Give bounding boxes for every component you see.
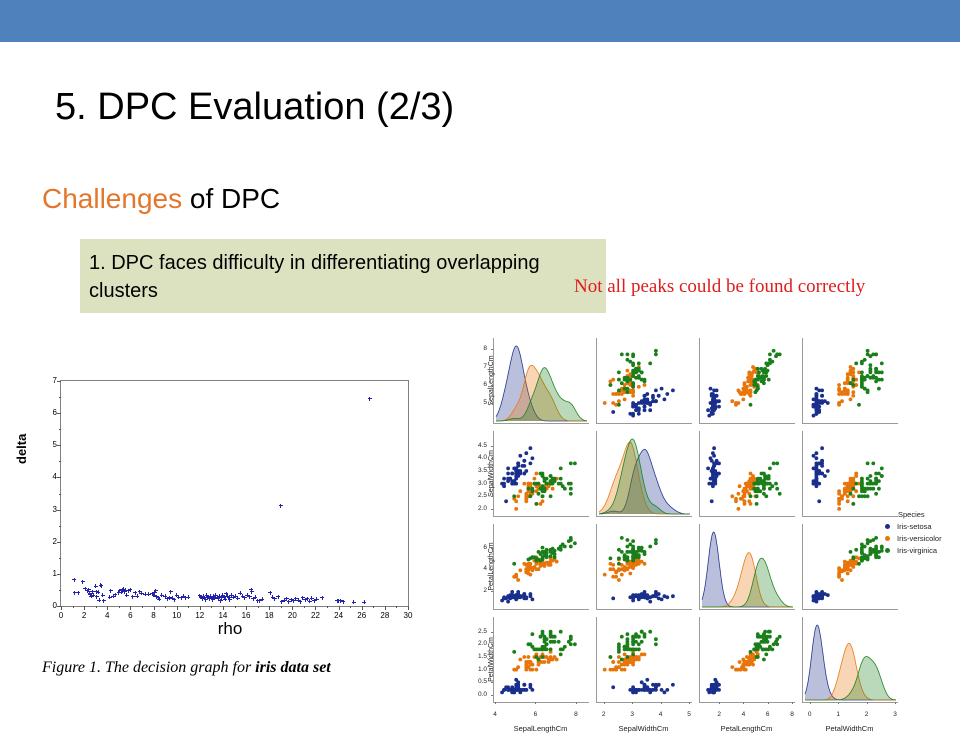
decision-graph-y-axis-label: delta (14, 434, 29, 464)
pairplot-y-tick-mark (491, 548, 493, 549)
pairplot-y-tick-mark (491, 367, 493, 368)
decision-graph-x-minor-tick (373, 606, 374, 608)
decision-graph-y-tick (57, 574, 61, 575)
pairplot-y-tick-label: 6 (465, 381, 487, 388)
pairplot-y-tick-label: 4.5 (465, 442, 487, 449)
decision-graph-x-tick (200, 606, 201, 610)
decision-graph-point (268, 591, 272, 595)
figure-caption-emphasis: iris data set (255, 659, 331, 676)
pairplot-y-tick-label: 2.0 (465, 640, 487, 647)
decision-graph-y-tick (57, 413, 61, 414)
figure-caption-prefix: Figure 1. The decision graph for (42, 659, 255, 676)
decision-graph-point (279, 504, 283, 508)
pairplot-diagonal-kde-cell (699, 524, 795, 610)
decision-graph-point (154, 589, 158, 593)
pairplot-scatter-cell (493, 524, 589, 610)
decision-graph-y-tick-label: 5 (47, 440, 57, 449)
decision-graph-y-minor-tick (59, 397, 61, 398)
decision-graph-point (169, 590, 173, 594)
pairplot-x-tick-mark (576, 702, 577, 704)
decision-graph-point (131, 595, 135, 599)
decision-graph-point (96, 590, 100, 594)
pairplot-y-tick-mark (491, 569, 493, 570)
pairplot-x-tick-label: 2 (711, 711, 727, 718)
pairplot-y-tick-mark (491, 695, 493, 696)
pairplot-x-tick-mark (661, 702, 662, 704)
decision-graph-x-tick (107, 606, 108, 610)
decision-graph-point (135, 594, 139, 598)
pairplot-y-tick-label: 0.5 (465, 678, 487, 685)
pairplot-x-tick-mark (895, 702, 896, 704)
pairplot-x-tick-label: 5 (681, 711, 697, 718)
pairplot-x-tick-mark (604, 702, 605, 704)
pairplot-y-tick-mark (491, 349, 493, 350)
subtitle-accent-text: Challenges (42, 183, 182, 214)
pairplot-scatter-cell (699, 431, 795, 517)
decision-graph-point (352, 600, 356, 604)
decision-graph-y-minor-tick (59, 526, 61, 527)
decision-graph-y-tick-label: 4 (47, 472, 57, 481)
legend-item-label: Iris-setosa (897, 522, 932, 531)
decision-graph-point (276, 595, 280, 599)
pairplot-y-tick-mark (491, 591, 493, 592)
pairplot-column-axis-label: PetalLengthCm (699, 724, 794, 733)
pairplot-legend: Species Iris-setosaIris-versicolorIris-v… (885, 510, 942, 558)
pairplot-x-tick-mark (810, 702, 811, 704)
decision-graph-point (236, 596, 240, 600)
decision-graph-y-minor-tick (59, 494, 61, 495)
pairplot-scatter-cell (699, 338, 795, 424)
decision-graph-point (99, 584, 103, 588)
decision-graph-x-tick (246, 606, 247, 610)
pairplot-x-tick-label: 6 (760, 711, 776, 718)
pairplot-y-tick-label: 7 (465, 363, 487, 370)
decision-graph-x-tick (223, 606, 224, 610)
legend-item-label: Iris-virginica (897, 546, 937, 555)
pairplot-x-tick-mark (495, 702, 496, 704)
decision-graph-point (260, 597, 264, 601)
legend-title: Species (898, 510, 942, 519)
decision-graph-x-minor-tick (119, 606, 120, 608)
pairplot-y-tick-label: 3.5 (465, 467, 487, 474)
pairplot-x-tick-label: 4 (735, 711, 751, 718)
pairplot-y-tick-mark (491, 496, 493, 497)
decision-graph-point (76, 591, 80, 595)
legend-color-swatch (885, 536, 890, 541)
pairplot-x-tick-mark (768, 702, 769, 704)
decision-graph-point (101, 593, 105, 597)
decision-graph-point (320, 596, 324, 600)
decision-graph-x-minor-tick (396, 606, 397, 608)
decision-graph-y-tick-label: 2 (47, 537, 57, 546)
pairplot-scatter-cell (493, 617, 589, 703)
decision-graph-y-minor-tick (59, 461, 61, 462)
pairplot-x-tick-label: 2 (596, 711, 612, 718)
pairplot-x-tick-mark (689, 702, 690, 704)
decision-graph-x-tick (269, 606, 270, 610)
pairplot-row-axis-label: SepalWidthCm (488, 431, 495, 516)
pairplot-scatter-cell (699, 617, 795, 703)
decision-graph-point (109, 589, 113, 593)
decision-graph-y-tick-label: 3 (47, 505, 57, 514)
pairplot-y-tick-label: 5 (465, 399, 487, 406)
peaks-annotation-text: Not all peaks could be found correctly (574, 276, 865, 298)
pairplot-x-tick-label: 4 (653, 711, 669, 718)
decision-graph-x-tick (130, 606, 131, 610)
decision-graph-x-tick (292, 606, 293, 610)
decision-graph-y-minor-tick (59, 429, 61, 430)
pairplot-y-tick-label: 2.5 (465, 628, 487, 635)
pairplot-column-axis-label: SepalLengthCm (493, 724, 588, 733)
decision-graph-figure: delta 0123456702468101214161820222426283… (20, 360, 440, 650)
legend-color-swatch (885, 524, 890, 529)
pairplot-y-tick-mark (491, 509, 493, 510)
pairplot-y-tick-mark (491, 458, 493, 459)
pairplot-diagonal-kde-cell (493, 338, 589, 424)
decision-graph-x-tick (362, 606, 363, 610)
pairplot-x-tick-mark (535, 702, 536, 704)
pairplot-scatter-cell (596, 617, 692, 703)
decision-graph-point (172, 598, 176, 602)
decision-graph-x-axis-label: rho (20, 619, 440, 639)
decision-graph-y-tick-label: 1 (47, 569, 57, 578)
decision-graph-point (362, 600, 366, 604)
decision-graph-x-minor-tick (304, 606, 305, 608)
page-title: 5. DPC Evaluation (2/3) (55, 86, 454, 129)
decision-graph-x-minor-tick (96, 606, 97, 608)
decision-graph-point (97, 598, 101, 602)
decision-graph-point (81, 580, 85, 584)
decision-graph-y-tick (57, 477, 61, 478)
pairplot-x-tick-label: 0 (802, 711, 818, 718)
pairplot-scatter-cell (596, 524, 692, 610)
pairplot-x-tick-label: 3 (624, 711, 640, 718)
decision-graph-y-tick (57, 510, 61, 511)
pairplot-x-tick-label: 1 (830, 711, 846, 718)
decision-graph-point (128, 588, 132, 592)
pairplot-x-tick-mark (743, 702, 744, 704)
pairplot-y-tick-label: 1.0 (465, 666, 487, 673)
decision-graph-x-tick (385, 606, 386, 610)
pairplot-x-tick-label: 2 (859, 711, 875, 718)
challenge-callout-text: 1. DPC faces difficulty in differentiati… (89, 249, 594, 305)
decision-graph-x-minor-tick (235, 606, 236, 608)
decision-graph-x-minor-tick (165, 606, 166, 608)
decision-graph-x-tick (339, 606, 340, 610)
pairplot-x-tick-mark (792, 702, 793, 704)
pairplot-scatter-cell (596, 338, 692, 424)
decision-graph-point (368, 397, 372, 401)
decision-graph-x-tick (177, 606, 178, 610)
decision-graph-point (72, 578, 76, 582)
pairplot-y-tick-mark (491, 484, 493, 485)
legend-item[interactable]: Iris-virginica (885, 546, 942, 555)
pairplot-y-tick-label: 6 (465, 544, 487, 551)
pairplot-scatter-cell (802, 524, 898, 610)
decision-graph-point (94, 584, 98, 588)
pairplot-y-tick-label: 2.5 (465, 492, 487, 499)
pairplot-y-tick-label: 3.0 (465, 480, 487, 487)
decision-graph-point (341, 600, 345, 604)
decision-graph-x-tick (408, 606, 409, 610)
decision-graph-x-minor-tick (258, 606, 259, 608)
pairplot-y-tick-mark (491, 385, 493, 386)
pairplot-x-tick-label: 8 (784, 711, 800, 718)
decision-graph-x-tick (84, 606, 85, 610)
section-subtitle: Challenges of DPC (42, 183, 280, 215)
decision-graph-x-tick (315, 606, 316, 610)
pairplot-y-tick-label: 1.5 (465, 653, 487, 660)
decision-graph-y-tick-label: 7 (47, 376, 57, 385)
pairplot-x-tick-mark (867, 702, 868, 704)
legend-item[interactable]: Iris-versicolor (885, 534, 942, 543)
decision-graph-x-minor-tick (142, 606, 143, 608)
pairplot-x-tick-label: 6 (527, 711, 543, 718)
pairplot-y-tick-mark (491, 657, 493, 658)
legend-item[interactable]: Iris-setosa (885, 522, 942, 531)
iris-pairplot-figure: SepalLengthCm5678SepalWidthCm2.02.53.03.… (445, 330, 960, 715)
decision-graph-point (250, 590, 254, 594)
pairplot-y-tick-mark (491, 644, 493, 645)
decision-graph-y-tick (57, 445, 61, 446)
decision-graph-point (125, 593, 129, 597)
decision-graph-point (157, 597, 161, 601)
decision-graph-point (186, 595, 190, 599)
decision-graph-y-tick-label: 0 (47, 601, 57, 610)
pairplot-x-tick-label: 3 (887, 711, 903, 718)
decision-graph-point (102, 599, 106, 603)
legend-entries: Iris-setosaIris-versicolorIris-virginica (885, 522, 942, 555)
pairplot-y-tick-label: 4 (465, 565, 487, 572)
pairplot-x-tick-mark (838, 702, 839, 704)
decision-graph-y-minor-tick (59, 558, 61, 559)
decision-graph-x-tick (61, 606, 62, 610)
pairplot-y-tick-label: 0.0 (465, 691, 487, 698)
pairplot-row-axis-label: SepalLengthCm (488, 338, 495, 423)
pairplot-x-tick-label: 8 (568, 711, 584, 718)
decision-graph-point (298, 600, 302, 604)
slide-canvas: 5. DPC Evaluation (2/3) Challenges of DP… (0, 0, 960, 720)
decision-graph-point (315, 597, 319, 601)
subtitle-plain-text: of DPC (182, 183, 280, 214)
pairplot-column-axis-label: PetalWidthCm (802, 724, 897, 733)
pairplot-y-tick-label: 2 (465, 587, 487, 594)
pairplot-y-tick-mark (491, 632, 493, 633)
pairplot-y-tick-mark (491, 682, 493, 683)
legend-item-label: Iris-versicolor (897, 534, 942, 543)
decision-graph-y-tick (57, 542, 61, 543)
pairplot-scatter-cell (802, 338, 898, 424)
pairplot-y-tick-label: 4.0 (465, 454, 487, 461)
pairplot-row-axis-label: PetalWidthCm (488, 617, 495, 702)
pairplot-diagonal-kde-cell (596, 431, 692, 517)
decision-graph-x-minor-tick (188, 606, 189, 608)
decision-graph-x-tick (154, 606, 155, 610)
pairplot-scatter-cell (802, 431, 898, 517)
pairplot-y-tick-mark (491, 670, 493, 671)
decision-graph-y-tick (57, 381, 61, 382)
legend-color-swatch (885, 548, 890, 553)
figure-caption: Figure 1. The decision graph for iris da… (42, 659, 331, 677)
pairplot-y-tick-mark (491, 471, 493, 472)
pairplot-x-tick-label: 4 (487, 711, 503, 718)
pairplot-y-tick-mark (491, 446, 493, 447)
pairplot-y-tick-label: 2.0 (465, 505, 487, 512)
decision-graph-x-minor-tick (350, 606, 351, 608)
decision-graph-x-minor-tick (73, 606, 74, 608)
pairplot-column-axis-label: SepalWidthCm (596, 724, 691, 733)
pairplot-scatter-cell (493, 431, 589, 517)
decision-graph-x-minor-tick (281, 606, 282, 608)
decision-graph-x-minor-tick (327, 606, 328, 608)
decision-graph-y-minor-tick (59, 590, 61, 591)
decision-graph-y-tick-label: 6 (47, 408, 57, 417)
decision-graph-plot-area: 01234567024681012141618202224262830 (60, 380, 409, 607)
decision-graph-x-minor-tick (211, 606, 212, 608)
slide-header-bar (0, 0, 960, 42)
pairplot-y-tick-mark (491, 403, 493, 404)
pairplot-row-axis-label: PetalLengthCm (488, 524, 495, 609)
pairplot-x-tick-mark (719, 702, 720, 704)
pairplot-y-tick-label: 8 (465, 345, 487, 352)
pairplot-diagonal-kde-cell (802, 617, 898, 703)
pairplot-x-tick-mark (632, 702, 633, 704)
